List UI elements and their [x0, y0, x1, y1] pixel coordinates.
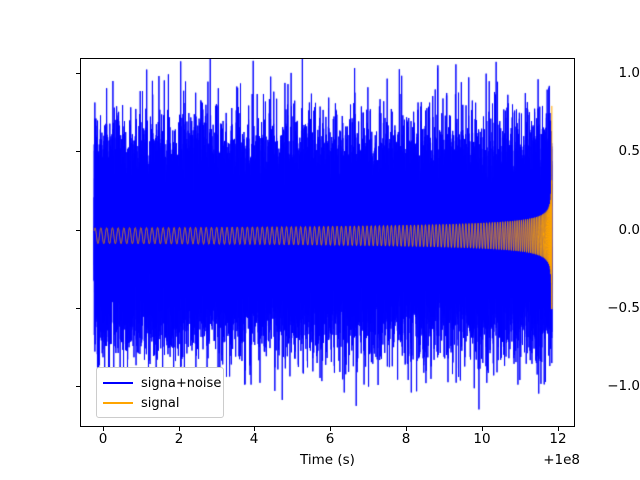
ytick-label-0.5: 0.5 [572, 144, 640, 158]
xtick-label-12: 12 [528, 432, 588, 447]
legend-entry-signal: signal [103, 393, 217, 413]
legend-entry-signa-noise: signa+noise [103, 373, 217, 393]
xtick-label-4: 4 [224, 432, 284, 447]
xtick-label-8: 8 [376, 432, 436, 447]
xtick-label-0: 0 [73, 432, 133, 447]
ytick-label-0.0: 0.0 [572, 223, 640, 237]
ytick-label--0.5: −0.5 [572, 301, 640, 315]
matplotlib-figure: Tm=12.161328125 1.0 0.5 0.0 −0.5 −1.0 0 … [0, 0, 640, 480]
xtick-label-2: 2 [149, 432, 209, 447]
xtick-label-6: 6 [300, 432, 360, 447]
ytick-label-1.0: 1.0 [572, 66, 640, 80]
legend-box: signa+noise signal [96, 367, 224, 418]
legend-label-signa-noise: signa+noise [141, 376, 221, 391]
ytick-label--1.0: −1.0 [572, 379, 640, 393]
legend-label-signal: signal [141, 396, 179, 411]
xtick-label-10: 10 [452, 432, 512, 447]
xaxis-offset-text: +1e8 [500, 452, 580, 468]
legend-swatch-signa-noise [103, 382, 133, 384]
legend-swatch-signal [103, 402, 133, 404]
